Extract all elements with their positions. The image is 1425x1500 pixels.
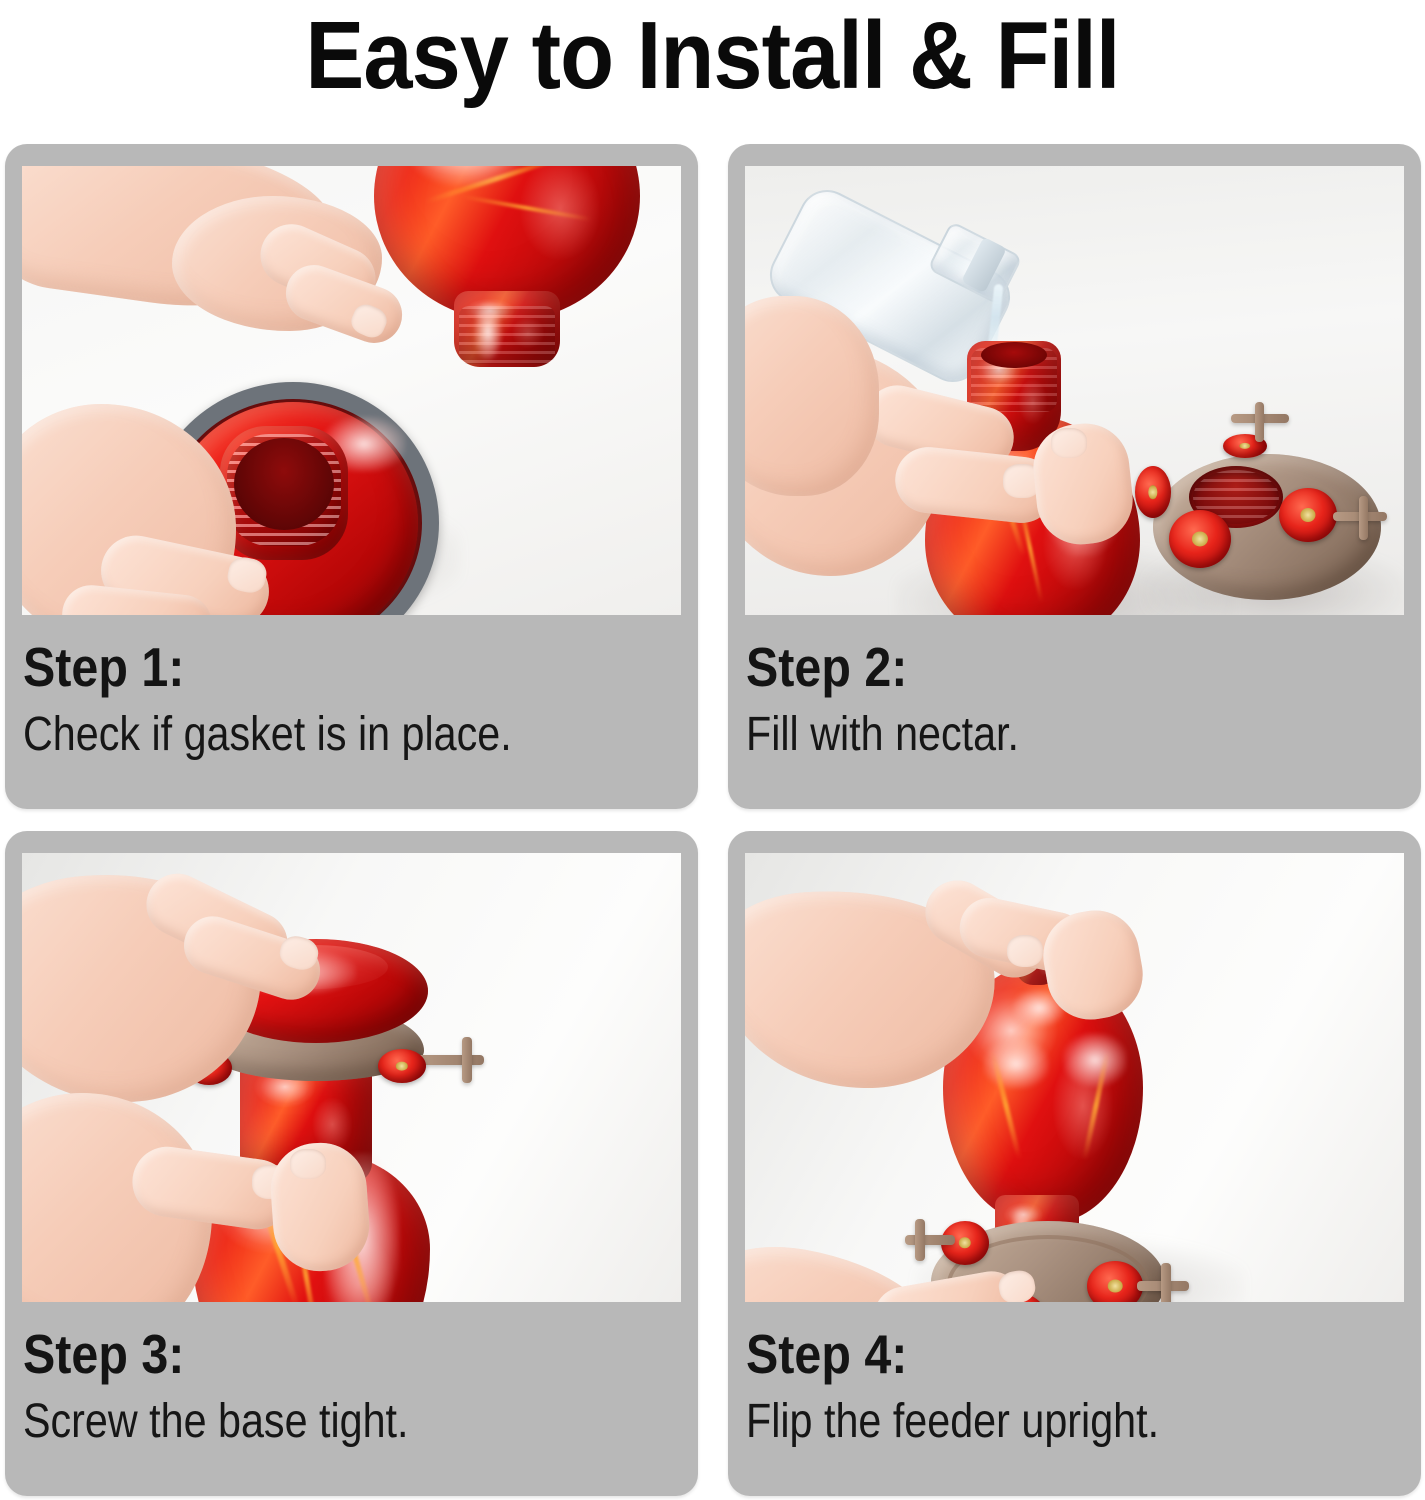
title-bar: Easy to Install & Fill — [0, 0, 1425, 142]
step-card-1: Step 1: Check if gasket is in place. — [5, 144, 698, 809]
step-2-description: Fill with nectar. — [746, 706, 1314, 764]
step-4-description: Flip the feeder upright. — [746, 1393, 1314, 1451]
step-4-label: Step 4: — [746, 1323, 1328, 1385]
step-3-photo — [22, 853, 681, 1302]
steps-grid: Step 1: Check if gasket is in place. — [5, 144, 1421, 1496]
step-2-caption: Step 2: Fill with nectar. — [746, 636, 1407, 764]
step-1-description: Check if gasket is in place. — [23, 706, 591, 764]
page-title: Easy to Install & Fill — [305, 0, 1119, 108]
step-card-2: Step 2: Fill with nectar. — [728, 144, 1421, 809]
step-1-caption: Step 1: Check if gasket is in place. — [23, 636, 684, 764]
step-card-3: Step 3: Screw the base tight. — [5, 831, 698, 1496]
step-2-photo — [745, 166, 1404, 615]
step-1-photo — [22, 166, 681, 615]
step-3-label: Step 3: — [23, 1323, 605, 1385]
step-2-label: Step 2: — [746, 636, 1328, 698]
step-1-label: Step 1: — [23, 636, 605, 698]
step-4-caption: Step 4: Flip the feeder upright. — [746, 1323, 1407, 1451]
infographic-page: Easy to Install & Fill — [0, 0, 1425, 1500]
step-4-photo — [745, 853, 1404, 1302]
step-3-caption: Step 3: Screw the base tight. — [23, 1323, 684, 1451]
step-3-description: Screw the base tight. — [23, 1393, 591, 1451]
step-card-4: Step 4: Flip the feeder upright. — [728, 831, 1421, 1496]
